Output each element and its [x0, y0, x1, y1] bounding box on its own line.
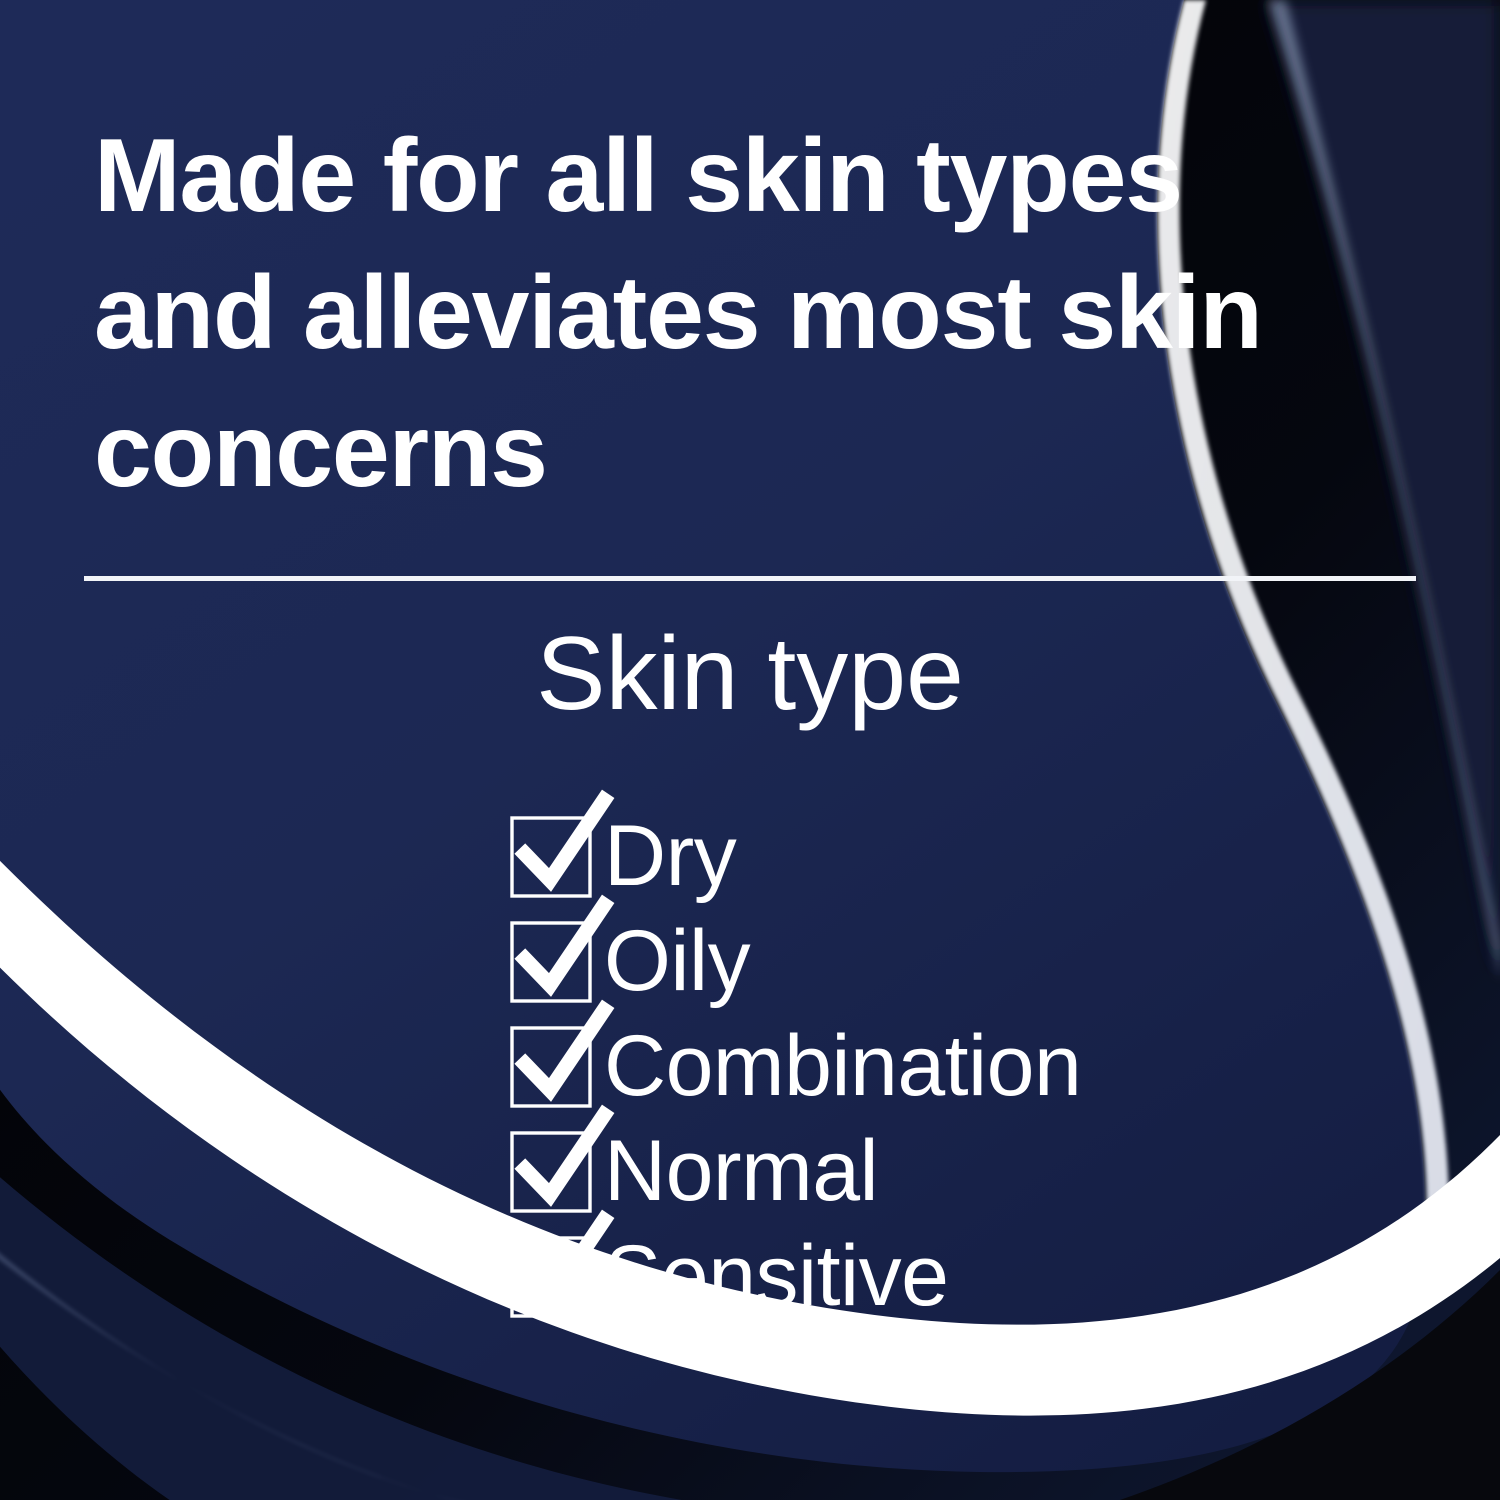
- checklist-item[interactable]: Oily: [512, 917, 1412, 1022]
- skin-type-checklist: DryOilyCombinationNormalSensitive: [512, 812, 1412, 1337]
- checklist-item-label: Normal: [604, 1127, 878, 1215]
- divider: [84, 576, 1416, 581]
- checklist-item-label: Oily: [604, 917, 750, 1005]
- promo-graphic: Made for all skin types and alleviates m…: [0, 0, 1500, 1500]
- checklist-item[interactable]: Sensitive: [512, 1232, 1412, 1337]
- checklist-item-label: Dry: [604, 812, 736, 900]
- checklist-item[interactable]: Dry: [512, 812, 1412, 917]
- checklist-item[interactable]: Normal: [512, 1127, 1412, 1232]
- checklist-item-label: Sensitive: [604, 1232, 948, 1320]
- checked-checkbox-icon[interactable]: [512, 1238, 590, 1316]
- checked-checkbox-icon[interactable]: [512, 923, 590, 1001]
- section-heading: Skin type: [0, 612, 1500, 737]
- checked-checkbox-icon[interactable]: [512, 1133, 590, 1211]
- checked-checkbox-icon[interactable]: [512, 818, 590, 896]
- page-title: Made for all skin types and alleviates m…: [94, 108, 1294, 520]
- checked-checkbox-icon[interactable]: [512, 1028, 590, 1106]
- checklist-item-label: Combination: [604, 1022, 1081, 1110]
- checklist-item[interactable]: Combination: [512, 1022, 1412, 1127]
